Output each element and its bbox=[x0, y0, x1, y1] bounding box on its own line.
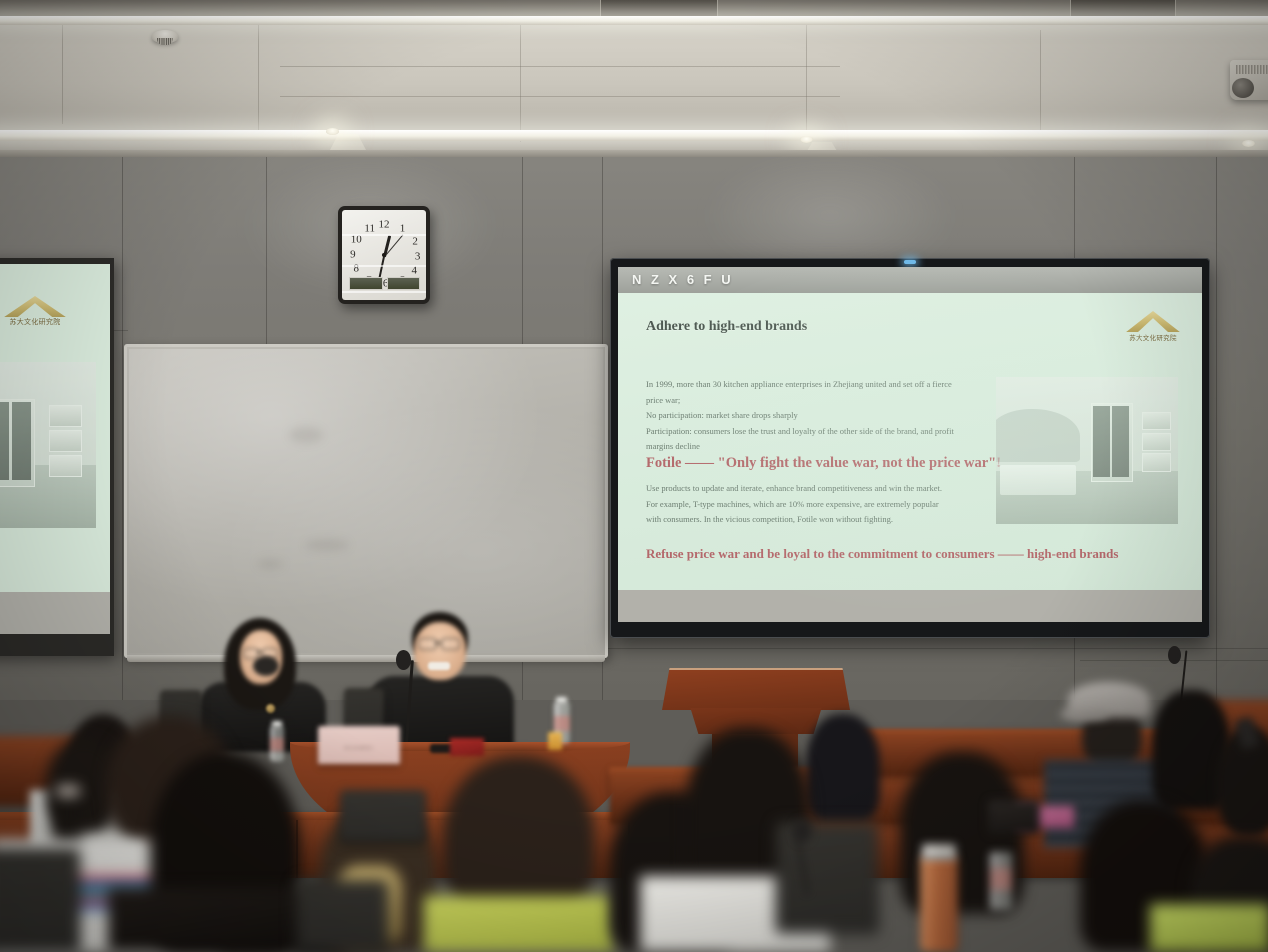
projector-vent-grille bbox=[1236, 65, 1268, 74]
audience-chair-right-mesh bbox=[779, 825, 875, 929]
clock-center-pin bbox=[382, 253, 386, 257]
water-bottle-left-label bbox=[270, 738, 284, 751]
audience-chair-left-mesh bbox=[0, 851, 77, 949]
slide-logo: 苏大文化研究院 bbox=[1126, 311, 1180, 345]
wall-seam-horizontal-3 bbox=[600, 648, 1268, 649]
clock-number-3: 3 bbox=[415, 251, 421, 262]
left-screen-logo-text: 苏大文化研究院 bbox=[4, 317, 66, 327]
whiteboard-smudge-1 bbox=[289, 427, 323, 443]
audience-chair-mid-mesh bbox=[299, 883, 385, 949]
slide-letterbox-bottom bbox=[618, 590, 1202, 622]
wall-seam-1 bbox=[122, 157, 123, 703]
left-photo-cabinet-door-a bbox=[0, 402, 9, 480]
clock-number-1: 1 bbox=[400, 223, 406, 234]
thermos-bottle bbox=[920, 856, 958, 952]
audience-water-bottle-label bbox=[990, 868, 1012, 890]
presenter-left-headset-mic bbox=[253, 656, 279, 676]
projector-lens bbox=[1232, 78, 1254, 98]
clock-glass-glare-2 bbox=[342, 265, 426, 267]
left-screen-logo-arch-icon bbox=[4, 296, 66, 317]
clock-number-11: 11 bbox=[364, 223, 375, 234]
slide-photo-mountain-backdrop bbox=[996, 409, 1080, 462]
slide-photo-cabinet-door-b bbox=[1112, 406, 1128, 477]
presenter-chair-center-mesh bbox=[347, 691, 381, 731]
audience-chair-left[interactable] bbox=[0, 848, 80, 952]
juice-glass bbox=[548, 732, 562, 750]
water-bottle-right-label bbox=[554, 716, 570, 731]
audience-chair-mid[interactable] bbox=[296, 880, 388, 952]
foreground-hairband bbox=[56, 786, 80, 796]
ceiling-seam-3 bbox=[520, 24, 521, 142]
clock-thermometer-window bbox=[387, 277, 421, 291]
wall-display[interactable]: N Z X 6 F U Adhere to high-end brands 苏大… bbox=[610, 258, 1210, 638]
audience-chair-right[interactable] bbox=[776, 822, 878, 932]
foreground-shirt-green bbox=[1150, 904, 1268, 952]
audience-bag bbox=[988, 800, 1040, 834]
slide-body-line-4: Participation: consumers lose the trust … bbox=[646, 424, 954, 440]
clock-number-9: 9 bbox=[350, 250, 356, 261]
gooseneck-mic-head-right bbox=[1168, 646, 1181, 664]
slide-body-line-3: No participation: market share drops sha… bbox=[646, 408, 954, 424]
clock-hygrometer-window bbox=[349, 277, 383, 291]
presenter-left-glasses-bridge bbox=[257, 651, 262, 653]
left-screen-surface: 苏大文化研究院 end brands bbox=[0, 264, 110, 634]
red-folder bbox=[450, 738, 484, 756]
laptop-brand-label: HUAWEI bbox=[318, 746, 400, 752]
audience-chair-mid-row[interactable] bbox=[340, 790, 426, 842]
ceiling-downlight-2 bbox=[800, 136, 813, 143]
water-bottle-left-cap bbox=[272, 721, 282, 727]
presenter-right-mouth bbox=[428, 662, 450, 670]
gooseneck-mic-head-center bbox=[396, 650, 411, 670]
clock-number-4: 4 bbox=[411, 266, 417, 277]
whiteboard-pen-tray bbox=[127, 655, 605, 662]
lecture-hall-photo: 12 1 2 3 4 5 6 7 8 9 10 11 bbox=[0, 0, 1268, 952]
left-screen-logo: 苏大文化研究院 bbox=[4, 296, 66, 330]
clock-glass-glare-1 bbox=[342, 234, 426, 236]
clock-face: 12 1 2 3 4 5 6 7 8 9 10 11 bbox=[342, 210, 426, 300]
whiteboard-surface bbox=[129, 349, 603, 653]
left-photo-oven-2 bbox=[49, 430, 82, 452]
slide-body-line-1: In 1999, more than 30 kitchen appliance … bbox=[646, 377, 954, 393]
slide-photo-cabinet-door-a bbox=[1093, 406, 1109, 477]
presenter-left-glasses-left-lens bbox=[243, 648, 259, 659]
slide-body-line-2: price war; bbox=[646, 393, 954, 409]
left-projection-screen: 苏大文化研究院 end brands bbox=[0, 258, 114, 656]
slide-body2-line-3: with consumers. In the vicious competiti… bbox=[646, 512, 942, 528]
ceiling-seam-h1 bbox=[280, 66, 840, 67]
presenter-right-glasses-bridge bbox=[435, 642, 441, 644]
slide-header-bar: N Z X 6 F U bbox=[618, 267, 1202, 293]
wall-cornice bbox=[0, 150, 1268, 157]
clock-number-2: 2 bbox=[412, 236, 418, 247]
slide-photo-oven-2 bbox=[1142, 433, 1171, 451]
foreground-shirt-yellowgreen bbox=[424, 896, 614, 952]
left-screen-letterbox bbox=[0, 592, 110, 634]
audience-chair-mid-row-mesh bbox=[343, 793, 423, 839]
lectern-top bbox=[662, 668, 850, 710]
display-power-led bbox=[904, 260, 916, 264]
slide-footer-statement: Refuse price war and be loyal to the com… bbox=[646, 546, 1118, 562]
whiteboard-smudge-2 bbox=[305, 539, 349, 551]
ceiling bbox=[0, 0, 1268, 152]
slide-logo-text: 苏大文化研究院 bbox=[1126, 332, 1180, 342]
presenter-right-glasses-left-lens bbox=[418, 638, 437, 650]
left-photo-oven-1 bbox=[49, 405, 82, 427]
water-bottle-right-cap bbox=[556, 697, 567, 703]
wall-clock: 12 1 2 3 4 5 6 7 8 9 10 11 bbox=[338, 206, 430, 304]
presenter-right-glasses-right-lens bbox=[441, 638, 460, 650]
water-bottle-left bbox=[270, 726, 284, 762]
slide-highlight-quote: Fotile —— "Only fight the value war, not… bbox=[646, 455, 1001, 472]
clock-glass-glare-3 bbox=[342, 291, 426, 293]
ceiling-downlight-1 bbox=[326, 128, 339, 135]
ceiling-seam-5 bbox=[1040, 30, 1041, 138]
presenter-left-brooch bbox=[266, 704, 275, 713]
slide-body2-line-2: For example, T-type machines, which are … bbox=[646, 497, 942, 513]
slide-header-label: N Z X 6 F U bbox=[632, 272, 734, 287]
audience-head-hijab bbox=[806, 714, 880, 822]
thermos-bottle-cap bbox=[922, 844, 956, 860]
slide-body-block-2: Use products to update and iterate, enha… bbox=[646, 481, 942, 528]
audience-water-bottle bbox=[990, 852, 1012, 910]
slide-photo-oven-1 bbox=[1142, 412, 1171, 430]
left-photo-cabinet-door-b bbox=[12, 402, 32, 480]
left-photo-oven-3 bbox=[49, 455, 82, 477]
presenter-right-face bbox=[414, 622, 466, 680]
clock-number-12: 12 bbox=[379, 220, 390, 231]
slide-content: Adhere to high-end brands 苏大文化研究院 In 199… bbox=[618, 293, 1202, 590]
slide-photo-kitchen-island bbox=[1000, 465, 1076, 494]
display-screen: N Z X 6 F U Adhere to high-end brands 苏大… bbox=[618, 267, 1202, 622]
ceiling-projector bbox=[1230, 60, 1268, 100]
ceiling-seam-h2 bbox=[280, 96, 840, 97]
ceiling-seam-4 bbox=[806, 24, 807, 140]
audience-cap-brim bbox=[1060, 708, 1108, 721]
slide-body-line-5: margins decline bbox=[646, 439, 954, 455]
left-screen-photo bbox=[0, 362, 96, 528]
smoke-detector bbox=[152, 30, 178, 43]
slide-logo-arch-icon bbox=[1126, 311, 1180, 332]
ceiling-seam-1 bbox=[62, 24, 63, 124]
ceiling-seam-2 bbox=[258, 24, 259, 134]
wall-seam-6 bbox=[1216, 157, 1217, 703]
whiteboard-smudge-3 bbox=[257, 559, 283, 569]
slide-title: Adhere to high-end brands bbox=[646, 319, 807, 335]
slide-body-block-1: In 1999, more than 30 kitchen appliance … bbox=[646, 377, 954, 455]
ceiling-downlight-3 bbox=[1242, 140, 1255, 147]
led-light-strip-upper bbox=[0, 16, 1268, 25]
whiteboard bbox=[124, 344, 608, 658]
presenter-laptop[interactable]: HUAWEI bbox=[318, 726, 400, 764]
audience-desk-mic-head bbox=[794, 820, 811, 842]
slide-body2-line-1: Use products to update and iterate, enha… bbox=[646, 481, 942, 497]
slide-photo bbox=[996, 377, 1178, 524]
led-light-strip-lower bbox=[0, 130, 1268, 141]
left-screen-footer-text: end brands bbox=[0, 556, 80, 581]
slide-photo-oven-3 bbox=[1142, 453, 1171, 471]
